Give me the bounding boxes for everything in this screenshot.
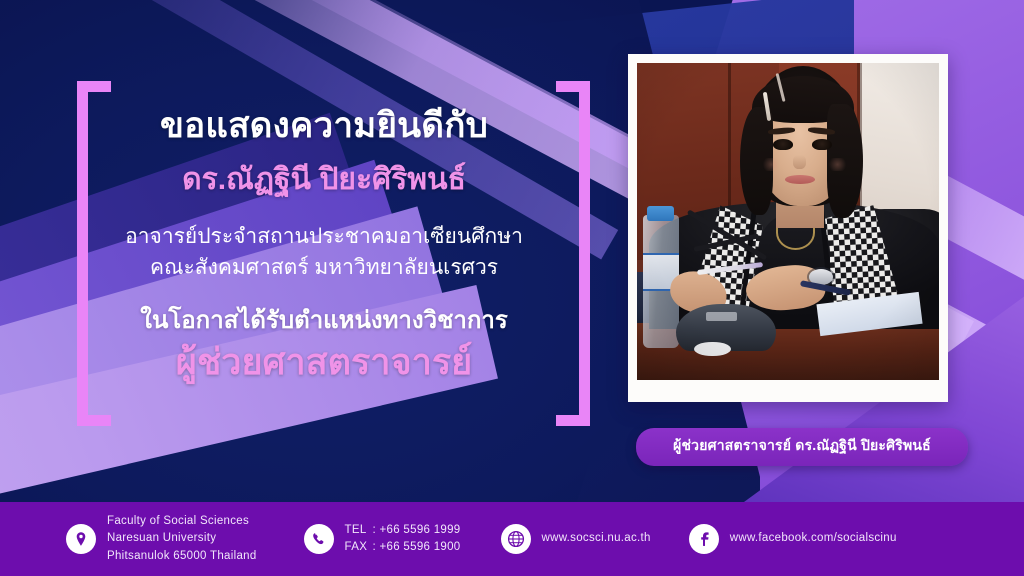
tel-value: : +66 5596 1999 [373,524,461,536]
fax-value: : +66 5596 1900 [373,541,461,553]
location-pin-icon [66,524,96,554]
portrait-photo [637,63,939,380]
photo-caption-badge: ผู้ช่วยศาสตราจารย์ ดร.ณัฏฐินี ปิยะศิริพน… [636,428,968,466]
footer-facebook[interactable]: www.facebook.com/socialscinu [689,524,897,554]
footer-address: Faculty of Social Sciences Naresuan Univ… [66,513,257,565]
portrait-photo-frame [628,54,948,402]
person-name: ดร.ณัฏฐินี ปิยะศิริพนธ์ [182,162,466,198]
globe-icon [501,524,531,554]
banner-canvas: ขอแสดงความยินดีกับ ดร.ณัฏฐินี ปิยะศิริพน… [0,0,1024,576]
address-line-2: Naresuan University [107,530,257,547]
occasion-text: ในโอกาสได้รับตำแหน่งทางวิชาการ [140,305,508,336]
tel-label: TEL [345,522,373,539]
website-url[interactable]: www.socsci.nu.ac.th [542,530,651,547]
congrats-heading: ขอแสดงความยินดีกับ [160,106,488,146]
facebook-url[interactable]: www.facebook.com/socialscinu [730,530,897,547]
footer-phone: TEL: +66 5596 1999 FAX: +66 5596 1900 [304,522,461,557]
address-line-3: Phitsanulok 65000 Thailand [107,548,257,565]
affiliation-text: อาจารย์ประจำสถานประชาคมอาเซียนศึกษา คณะส… [125,222,523,283]
footer-website[interactable]: www.socsci.nu.ac.th [501,524,651,554]
decorative-bracket-right [556,81,590,426]
affiliation-line-1: อาจารย์ประจำสถานประชาคมอาเซียนศึกษา [125,222,523,252]
footer-bar: Faculty of Social Sciences Naresuan Univ… [0,502,1024,576]
congratulation-text-block: ขอแสดงความยินดีกับ ดร.ณัฏฐินี ปิยะศิริพน… [96,96,552,412]
facebook-icon [689,524,719,554]
phone-icon [304,524,334,554]
affiliation-line-2: คณะสังคมศาสตร์ มหาวิทยาลัยนเรศวร [125,253,523,283]
fax-label: FAX [345,539,373,556]
academic-title: ผู้ช่วยศาสตราจารย์ [176,340,473,383]
address-line-1: Faculty of Social Sciences [107,513,257,530]
